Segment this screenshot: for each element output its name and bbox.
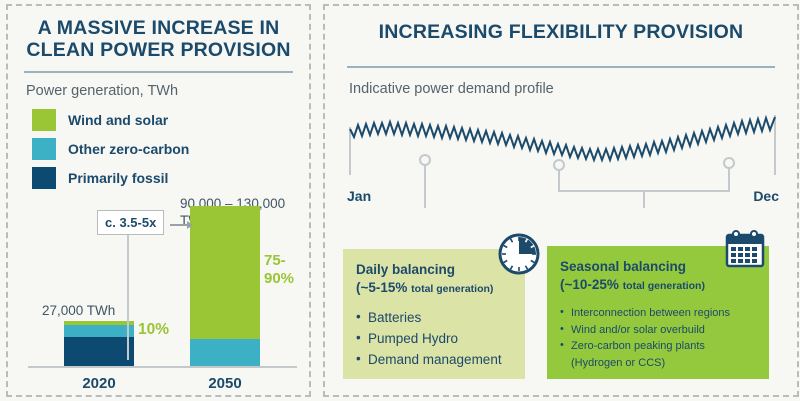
legend-label-primarily-fossil: Primarily fossil <box>68 170 168 186</box>
legend-label-wind-solar: Wind and solar <box>68 112 168 128</box>
seasonal-balancing-share: (~10-25% <box>560 277 619 292</box>
bar-share-label-2050: 75-90% <box>264 252 313 288</box>
left-panel-title: A MASSIVE INCREASE IN CLEAN POWER PROVIS… <box>22 18 295 62</box>
bar-x-label-2020: 2020 <box>54 375 144 392</box>
bar-chart: 90,000 – 130,000 TWh c. 3.5-5x 27,000 TW… <box>8 196 313 396</box>
list-item: Zero-carbon peaking plants <box>560 338 756 355</box>
legend-swatch-other-zero-carbon <box>32 138 56 160</box>
left-title-divider <box>24 71 293 73</box>
multiplier-arrow <box>170 224 192 226</box>
legend-item-primarily-fossil: Primarily fossil <box>32 167 309 189</box>
clock-icon <box>497 232 541 276</box>
right-panel-subtitle: Indicative power demand profile <box>349 81 797 97</box>
bar-2020 <box>64 321 134 366</box>
list-item: Pumped Hydro <box>356 329 512 350</box>
seasonal-connector-dot-right <box>724 158 734 168</box>
multiplier-stem <box>127 234 129 360</box>
bar-total-label-2020: 27,000 TWh <box>42 303 115 318</box>
calendar-icon <box>723 228 767 272</box>
daily-balancing-share-note: total generation) <box>411 283 493 295</box>
daily-balancing-title: Daily balancing <box>356 262 455 277</box>
list-item: Batteries <box>356 308 512 329</box>
daily-balancing-list: Batteries Pumped Hydro Demand management <box>356 308 512 371</box>
bar-2050 <box>190 206 260 366</box>
seasonal-connector-dot-left <box>554 160 564 170</box>
axis-label-jan: Jan <box>347 188 371 204</box>
legend-item-other-zero-carbon: Other zero-carbon <box>32 138 309 160</box>
demand-profile-svg <box>325 103 800 208</box>
seasonal-balancing-share-note: total generation) <box>623 280 705 292</box>
daily-connector-dot <box>420 155 430 165</box>
right-panel-title: INCREASING FLEXIBILITY PROVISION <box>355 22 767 44</box>
list-item-continuation: (Hydrogen or CCS) <box>560 355 756 372</box>
daily-balancing-heading: Daily balancing (~5-15% total generation… <box>356 261 512 296</box>
bar-segment-wind-solar-2050 <box>190 206 260 339</box>
seasonal-balancing-title: Seasonal balancing <box>560 259 686 274</box>
list-item: Wind and/or solar overbuild <box>560 322 756 339</box>
chart-legend: Wind and solar Other zero-carbon Primari… <box>32 109 309 189</box>
bar-segment-other-zero-carbon-2020 <box>64 325 134 337</box>
bar-segment-other-zero-carbon-2050 <box>190 339 260 366</box>
list-item: Interconnection between regions <box>560 305 756 322</box>
seasonal-balancing-list: Interconnection between regions Wind and… <box>560 305 756 371</box>
legend-item-wind-solar: Wind and solar <box>32 109 309 131</box>
left-panel: A MASSIVE INCREASE IN CLEAN POWER PROVIS… <box>6 4 311 397</box>
demand-profile-chart: Jan Dec <box>325 103 800 208</box>
right-panel: INCREASING FLEXIBILITY PROVISION Indicat… <box>323 4 799 397</box>
right-title-divider <box>347 66 775 68</box>
bar-segment-primarily-fossil-2020 <box>64 337 134 366</box>
axis-label-dec: Dec <box>753 188 779 204</box>
multiplier-callout: c. 3.5-5x <box>97 210 164 235</box>
infographic-canvas: A MASSIVE INCREASE IN CLEAN POWER PROVIS… <box>0 0 800 401</box>
demand-profile-line <box>350 117 775 160</box>
left-panel-subtitle: Power generation, TWh <box>26 83 309 99</box>
bar-chart-axis <box>28 366 297 368</box>
daily-balancing-share: (~5-15% <box>356 280 407 295</box>
seasonal-connector-bracket <box>559 168 729 191</box>
bar-share-label-2020: 10% <box>138 321 169 339</box>
bar-x-label-2050: 2050 <box>180 375 270 392</box>
list-item: Demand management <box>356 350 512 371</box>
legend-swatch-primarily-fossil <box>32 167 56 189</box>
legend-label-other-zero-carbon: Other zero-carbon <box>68 141 189 157</box>
legend-swatch-wind-solar <box>32 109 56 131</box>
